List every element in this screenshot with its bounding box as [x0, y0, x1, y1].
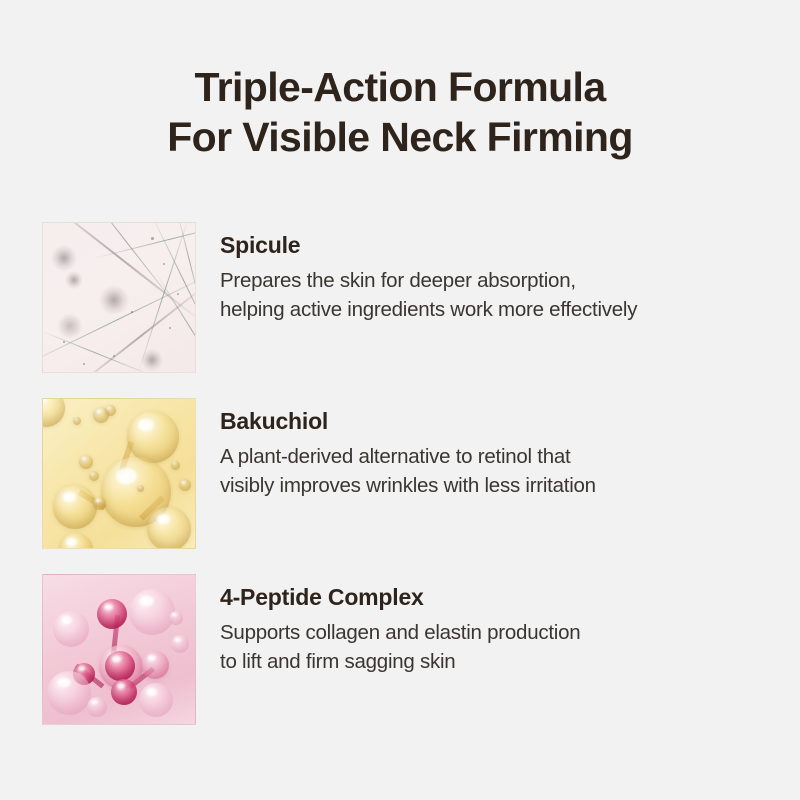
page-title: Triple-Action Formula For Visible Neck F… — [0, 62, 800, 162]
ingredient-description-line-2: to lift and firm sagging skin — [220, 647, 780, 676]
bakuchiol-golden-oil-bubbles-image — [42, 398, 196, 549]
ingredient-description: A plant-derived alternative to retinol t… — [220, 442, 780, 500]
ingredient-name: Bakuchiol — [220, 406, 780, 436]
list-item: 4-Peptide Complex Supports collagen and … — [42, 574, 782, 737]
infographic-page: Triple-Action Formula For Visible Neck F… — [0, 0, 800, 800]
ingredient-description-line-2: helping active ingredients work more eff… — [220, 295, 780, 324]
ingredient-name: Spicule — [220, 230, 780, 260]
ingredient-description: Prepares the skin for deeper absorption,… — [220, 266, 780, 324]
ingredient-copy: Bakuchiol A plant-derived alternative to… — [220, 406, 780, 500]
ingredient-description-line-1: Prepares the skin for deeper absorption, — [220, 266, 780, 295]
page-title-line-2: For Visible Neck Firming — [0, 112, 800, 162]
page-title-line-1: Triple-Action Formula — [0, 62, 800, 112]
ingredient-copy: 4-Peptide Complex Supports collagen and … — [220, 582, 780, 676]
ingredient-copy: Spicule Prepares the skin for deeper abs… — [220, 230, 780, 324]
peptide-pink-molecule-spheres-image — [42, 574, 196, 725]
list-item: Spicule Prepares the skin for deeper abs… — [42, 222, 782, 385]
ingredient-description: Supports collagen and elastin production… — [220, 618, 780, 676]
ingredient-description-line-1: A plant-derived alternative to retinol t… — [220, 442, 780, 471]
ingredient-name: 4-Peptide Complex — [220, 582, 780, 612]
ingredient-description-line-1: Supports collagen and elastin production — [220, 618, 780, 647]
ingredient-description-line-2: visibly improves wrinkles with less irri… — [220, 471, 780, 500]
spicule-microscope-fibers-image — [42, 222, 196, 373]
ingredient-list: Spicule Prepares the skin for deeper abs… — [42, 222, 782, 737]
list-item: Bakuchiol A plant-derived alternative to… — [42, 398, 782, 561]
